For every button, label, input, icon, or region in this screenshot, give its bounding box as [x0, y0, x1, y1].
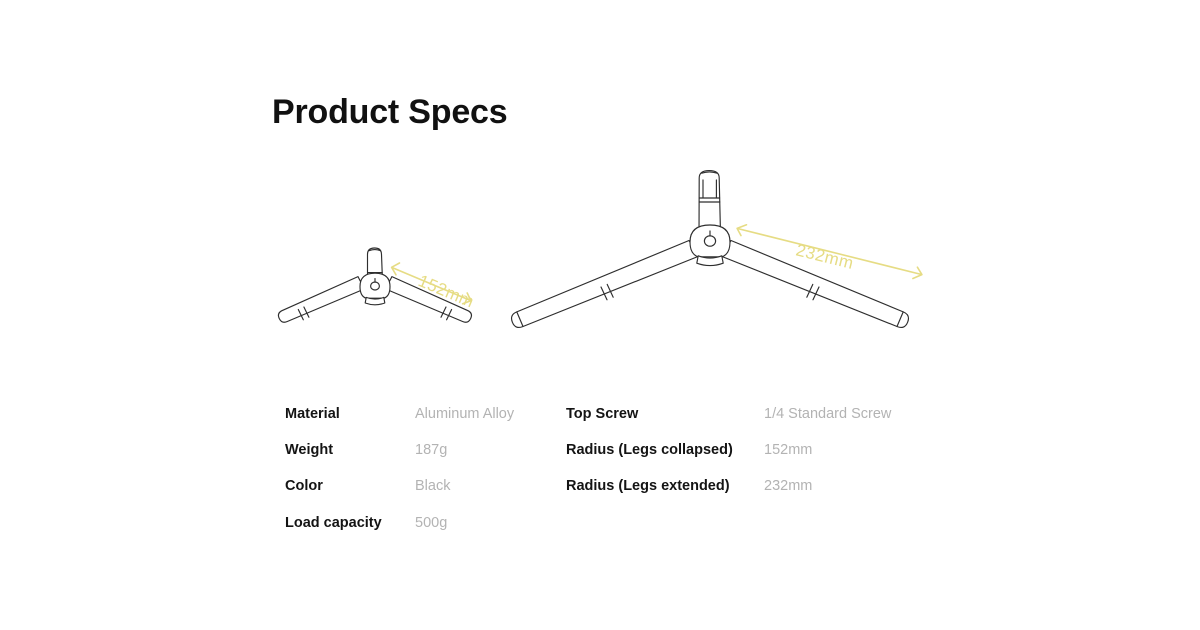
- spec-value-material: Aluminum Alloy: [415, 404, 514, 424]
- spec-column-left: Material Aluminum Alloy Weight 187g Colo…: [285, 404, 575, 549]
- spec-row-radius-collapsed: Radius (Legs collapsed) 152mm: [566, 440, 946, 476]
- spec-label-material: Material: [285, 404, 340, 424]
- page-title: Product Specs: [272, 90, 507, 134]
- extended-leg-left: [512, 241, 698, 328]
- spec-value-radius-extended: 232mm: [764, 476, 812, 496]
- spec-value-load-capacity: 500g: [415, 513, 447, 533]
- extended-center-hub: [690, 225, 730, 266]
- spec-label-load-capacity: Load capacity: [285, 513, 382, 533]
- spec-value-weight: 187g: [415, 440, 447, 460]
- spec-value-color: Black: [415, 476, 450, 496]
- spec-row-weight: Weight 187g: [285, 440, 575, 476]
- collapsed-center-hub: [360, 273, 390, 305]
- product-diagram: 152mm: [0, 150, 1200, 365]
- spec-row-radius-extended: Radius (Legs extended) 232mm: [566, 476, 946, 512]
- spec-label-radius-extended: Radius (Legs extended): [566, 476, 730, 496]
- spec-value-radius-collapsed: 152mm: [764, 440, 812, 460]
- spec-row-material: Material Aluminum Alloy: [285, 404, 575, 440]
- spec-label-radius-collapsed: Radius (Legs collapsed): [566, 440, 733, 460]
- spec-label-top-screw: Top Screw: [566, 404, 638, 424]
- tripod-diagram-svg: 152mm: [0, 150, 1200, 365]
- tripod-view-legs-collapsed: 152mm: [278, 248, 476, 322]
- dimension-232mm-label: 232mm: [794, 240, 856, 273]
- tripod-view-legs-extended: 232mm: [512, 171, 922, 328]
- collapsed-leg-left: [278, 277, 364, 323]
- spec-label-weight: Weight: [285, 440, 333, 460]
- spec-label-color: Color: [285, 476, 323, 496]
- spec-column-right: Top Screw 1/4 Standard Screw Radius (Leg…: [566, 404, 946, 513]
- spec-row-load-capacity: Load capacity 500g: [285, 513, 575, 549]
- spec-row-top-screw: Top Screw 1/4 Standard Screw: [566, 404, 946, 440]
- spec-value-top-screw: 1/4 Standard Screw: [764, 404, 891, 424]
- spec-row-color: Color Black: [285, 476, 575, 512]
